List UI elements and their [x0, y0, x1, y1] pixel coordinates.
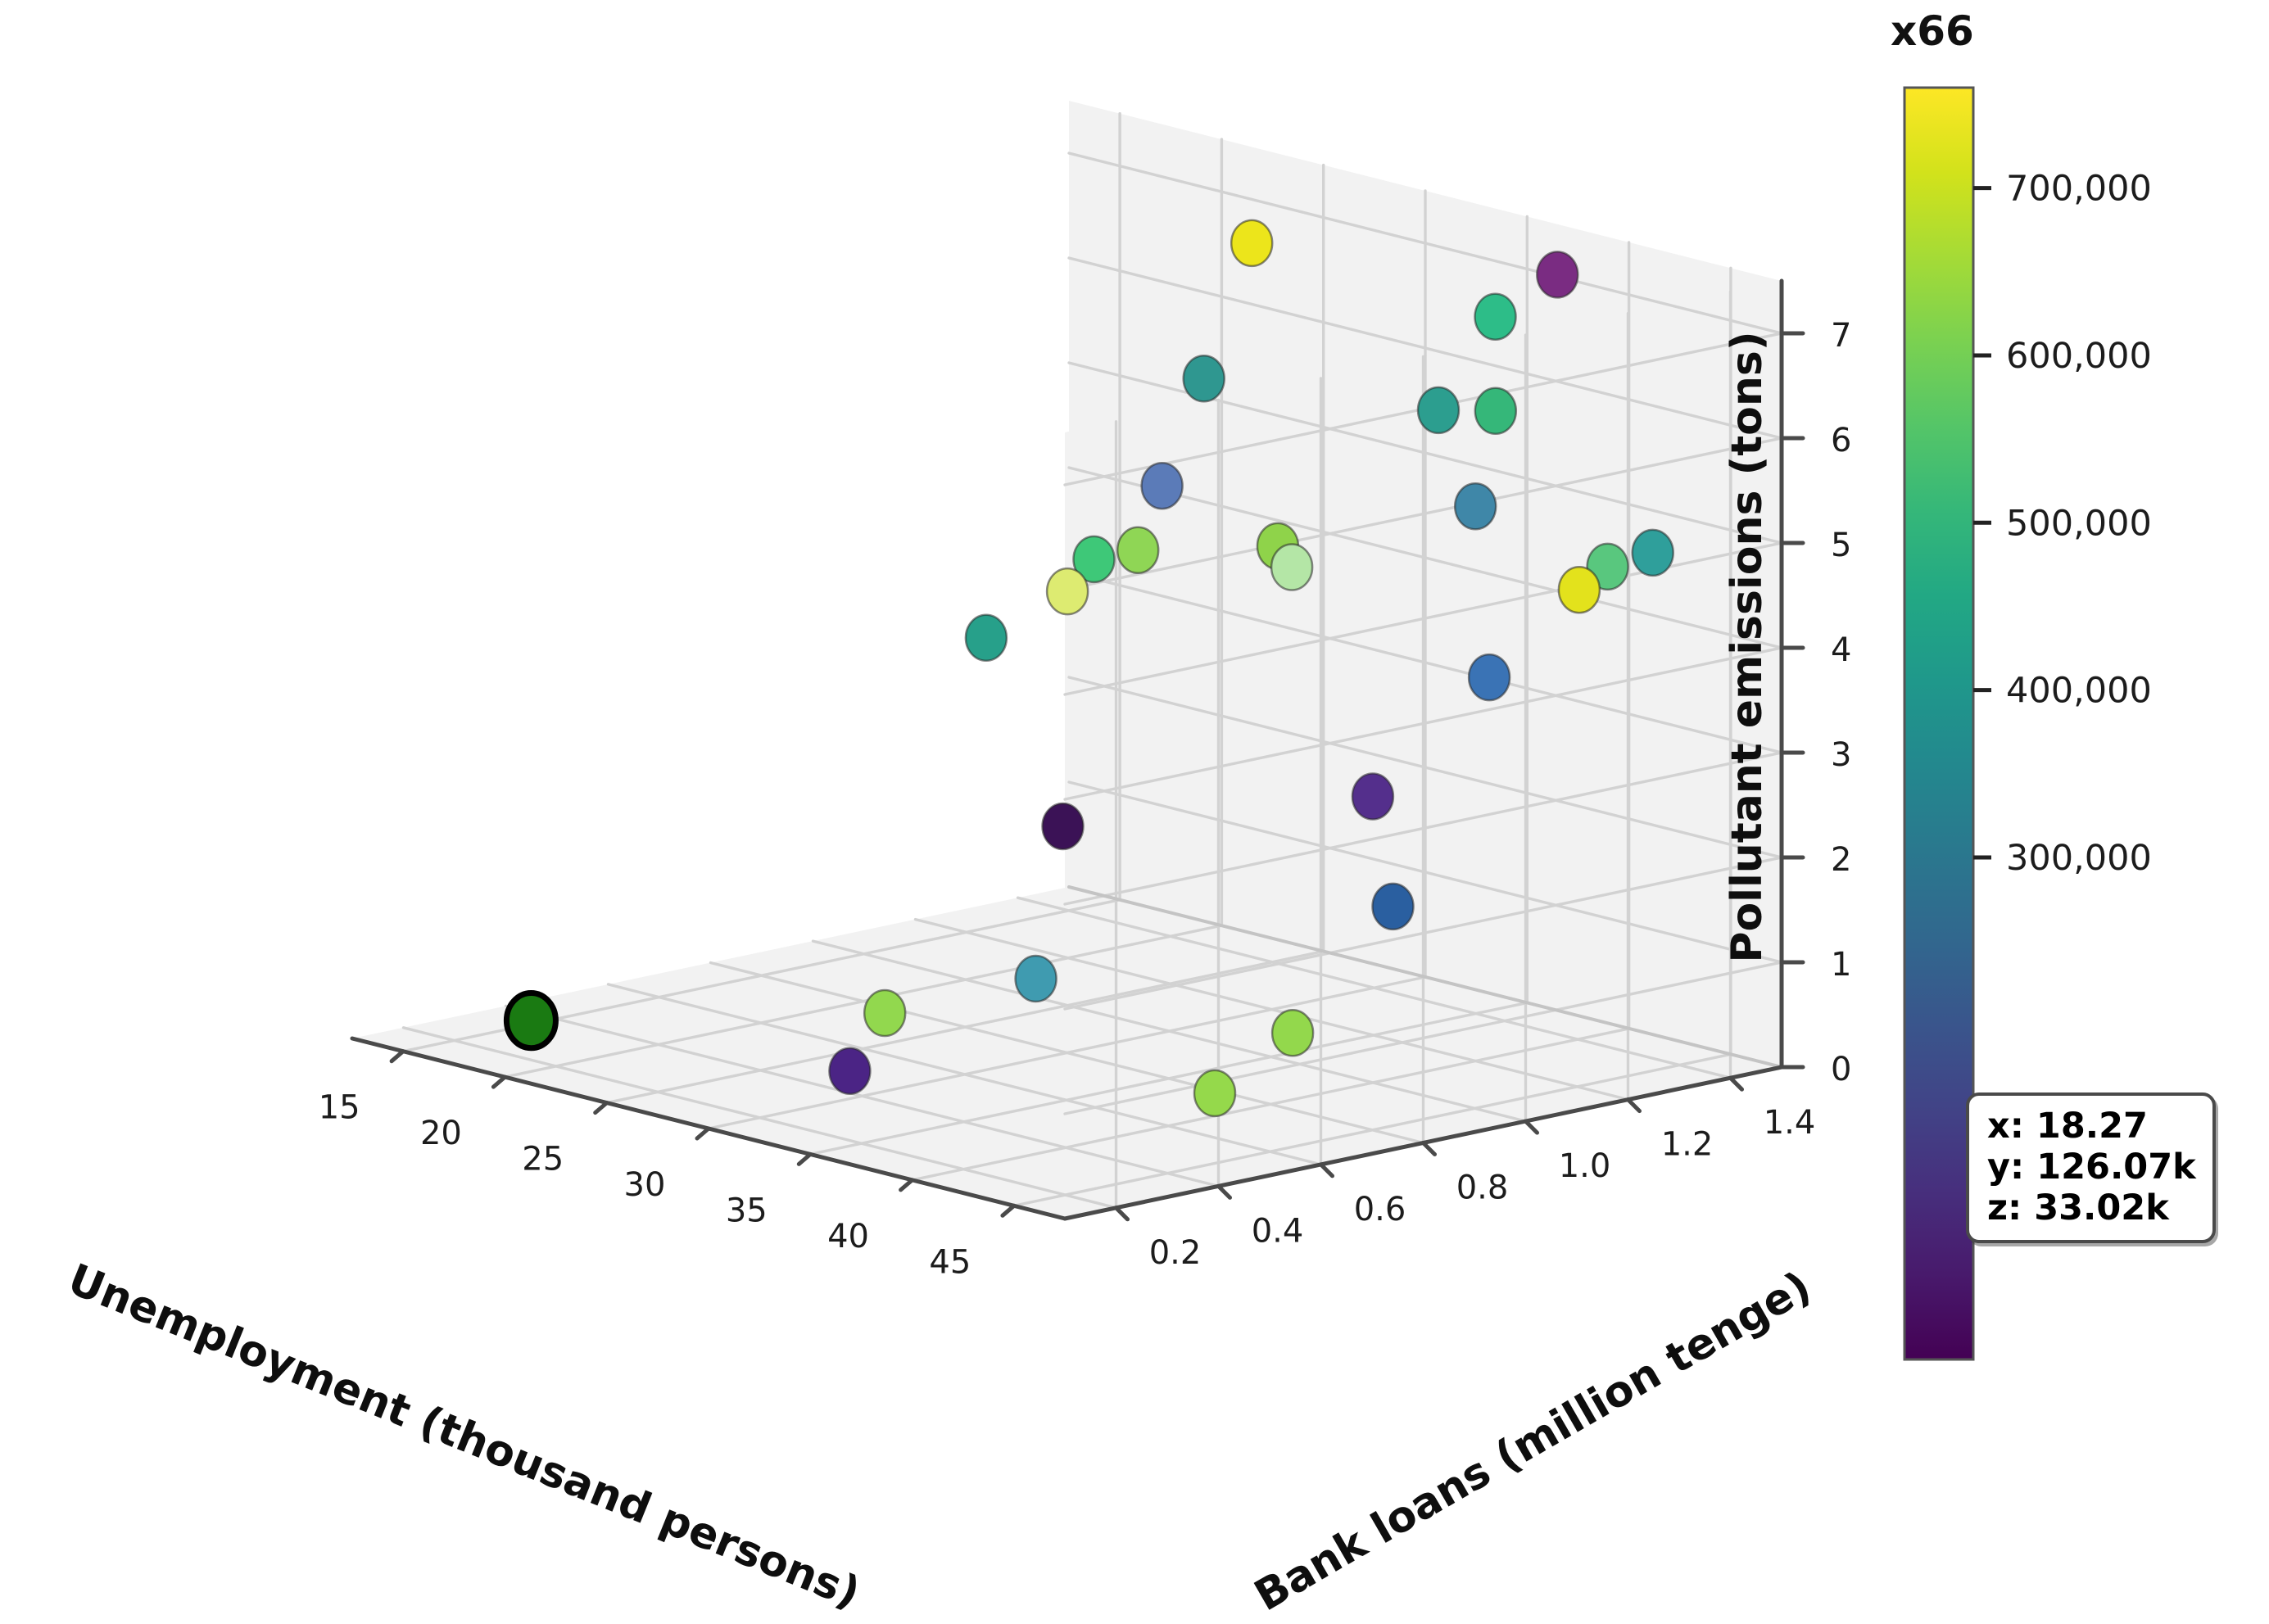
x-axis-tick [697, 1129, 709, 1138]
x-axis-title: Unemployment (thousand persons) [61, 1255, 867, 1618]
y-tick-label: 1.2 [1661, 1126, 1714, 1164]
figure-canvas: 152025303540450.20.40.60.81.01.21.40100,… [0, 0, 2269, 1624]
scatter-point[interactable] [1117, 527, 1158, 573]
y-tick-label: 1.4 [1764, 1104, 1816, 1142]
x-tick-label: 30 [624, 1166, 666, 1204]
y-axis-tick [1116, 1208, 1128, 1219]
colorbar-tick-label: 500,000 [2006, 503, 2152, 544]
scatter-point[interactable] [1418, 387, 1459, 433]
tooltip-line-x: x: 18.27 [1987, 1106, 2196, 1147]
point-tooltip: x: 18.27 y: 126.07k z: 33.02k [1966, 1092, 2216, 1243]
scatter-point[interactable] [1142, 463, 1183, 509]
y-axis-tick [1219, 1186, 1230, 1197]
colorbar-tick-label: 300,000 [2006, 838, 2152, 879]
x-axis-tick [596, 1103, 607, 1113]
y-axis-tick [1526, 1121, 1538, 1133]
y-axis-tick [1731, 1078, 1742, 1089]
scatter-point[interactable] [966, 615, 1007, 661]
tooltip-line-y: y: 126.07k [1987, 1147, 2196, 1187]
y-tick-label: 1.0 [1559, 1147, 1611, 1185]
scatter-point[interactable] [1373, 884, 1414, 930]
colorbar-tick-label: 700,000 [2006, 169, 2152, 210]
y-tick-label: 0.2 [1149, 1234, 1202, 1272]
scatter-point[interactable] [1272, 1010, 1313, 1056]
x-axis-tick [1003, 1206, 1014, 1215]
y-axis-title: Bank loans (million tenge) [1247, 1262, 1819, 1621]
y-axis-tick [1321, 1165, 1333, 1176]
scatter-point[interactable] [1043, 803, 1084, 849]
scatter-point[interactable] [1194, 1070, 1235, 1116]
scatter-point[interactable] [1537, 251, 1578, 297]
y-axis-tick [1628, 1100, 1640, 1111]
scatter3d-plot[interactable]: 152025303540450.20.40.60.81.01.21.40100,… [0, 0, 1851, 1624]
scatter-point[interactable] [1455, 483, 1496, 529]
scatter-point[interactable] [1633, 530, 1673, 576]
z-axis-title: Pollutant emissions (tons) [1723, 331, 1772, 962]
scatter-point[interactable] [1352, 774, 1393, 820]
x-tick-label: 35 [726, 1192, 768, 1229]
scatter-point[interactable] [1016, 956, 1057, 1002]
colorbar[interactable]: x66 700,000600,000500,000400,000300,000 [1843, 0, 2269, 1624]
scatter-point[interactable] [1231, 220, 1272, 266]
y-tick-label: 0.6 [1354, 1191, 1406, 1228]
tooltip-line-z: z: 33.02k [1987, 1187, 2196, 1228]
x-axis-tick [392, 1052, 403, 1061]
scatter-point[interactable] [829, 1048, 870, 1094]
scatter-point[interactable] [1271, 545, 1312, 590]
colorbar-ticks: 700,000600,000500,000400,000300,000 [1973, 169, 2152, 879]
scatter-point-selected[interactable] [506, 993, 555, 1048]
x-tick-label: 15 [319, 1089, 360, 1127]
colorbar-tick-label: 600,000 [2006, 336, 2152, 377]
x-tick-label: 20 [420, 1115, 462, 1152]
colorbar-tick-label: 400,000 [2006, 671, 2152, 712]
x-axis-tick [901, 1180, 913, 1190]
y-tick-label: 0.4 [1252, 1212, 1304, 1250]
x-tick-label: 45 [929, 1243, 971, 1281]
scatter-point[interactable] [1475, 294, 1516, 340]
colorbar-gradient[interactable] [1904, 88, 1973, 1359]
x-tick-label: 40 [827, 1218, 869, 1255]
scatter-point[interactable] [1469, 654, 1510, 700]
y-tick-label: 0.8 [1456, 1169, 1509, 1207]
scatter-point[interactable] [1047, 568, 1088, 614]
x-axis-tick [799, 1154, 810, 1164]
scatter-point[interactable] [1559, 567, 1600, 613]
scatter-point[interactable] [1184, 355, 1225, 401]
scatter-point[interactable] [864, 990, 905, 1036]
scatter-point[interactable] [1475, 388, 1516, 434]
colorbar-title: x66 [1891, 7, 1974, 55]
y-axis-tick [1424, 1143, 1435, 1155]
x-tick-label: 25 [522, 1141, 564, 1178]
x-axis-tick [493, 1077, 505, 1087]
